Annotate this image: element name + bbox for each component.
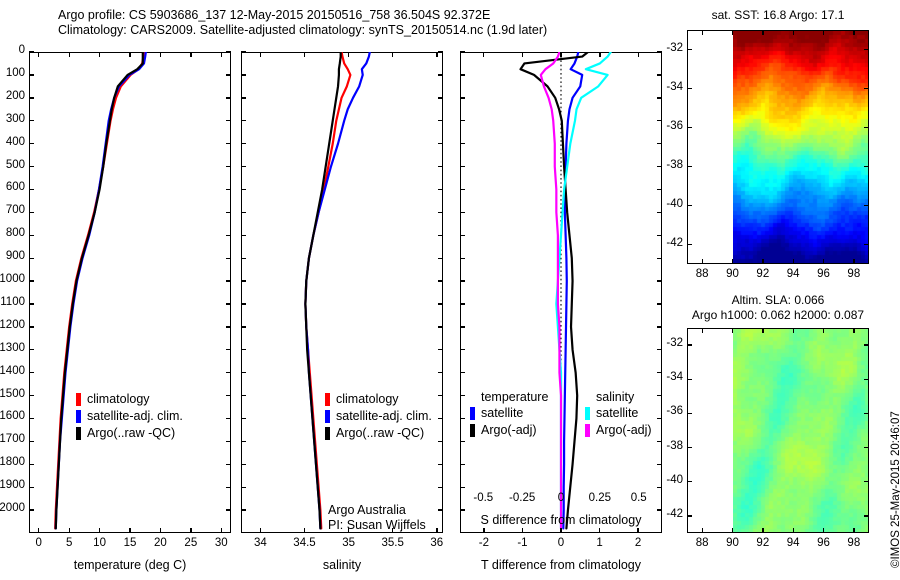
x-tick-label: 34.5 (283, 537, 327, 549)
x-tick (304, 52, 305, 57)
x-tick (260, 528, 261, 533)
map-y-tick (687, 447, 692, 448)
y-tick (226, 372, 231, 373)
y-tick (241, 280, 246, 281)
legend-row: satellite (470, 405, 548, 422)
y-tick (29, 189, 34, 190)
x-tick-label: 0 (539, 537, 583, 549)
y-tick (438, 51, 443, 52)
x-tick (38, 52, 39, 57)
difference-legend-temperature: temperaturesatelliteArgo(-adj) (470, 390, 548, 439)
map-y-tick (687, 244, 692, 245)
y-tick (29, 464, 34, 465)
depth-tick-label: 0 (0, 44, 25, 56)
temperature-axis-label: temperature (deg C) (29, 558, 231, 572)
y-tick (460, 395, 465, 396)
depth-tick-label: 1300 (0, 342, 25, 354)
y-tick (241, 120, 246, 121)
y-tick (657, 258, 662, 259)
y-tick (241, 441, 246, 442)
map-x-tick (732, 30, 733, 35)
y-tick (241, 51, 246, 52)
map-lat-label: -36 (651, 405, 683, 417)
salinity-legend: climatologysatellite-adj. clim.Argo(..ra… (325, 391, 432, 442)
y-tick (29, 120, 34, 121)
map-lat-label: -40 (651, 474, 683, 486)
y-tick (29, 441, 34, 442)
legend-row: satellite-adj. clim. (325, 408, 432, 425)
y-tick (438, 166, 443, 167)
y-tick (438, 74, 443, 75)
y-tick (438, 487, 443, 488)
y-tick (226, 120, 231, 121)
y-tick (460, 235, 465, 236)
temperature-profile-curves (29, 52, 231, 533)
map-lat-label: -42 (651, 508, 683, 520)
x-tick (38, 528, 39, 533)
legend-label: satellite (596, 405, 638, 422)
y-tick (657, 349, 662, 350)
legend-swatch (470, 424, 475, 437)
y-tick (226, 258, 231, 259)
map-lat-label: -40 (651, 198, 683, 210)
y-tick (460, 258, 465, 259)
x-tick-label: 34 (238, 537, 282, 549)
y-tick (438, 280, 443, 281)
y-tick (241, 143, 246, 144)
x-tick (260, 52, 261, 57)
y-tick (657, 212, 662, 213)
y-tick (29, 74, 34, 75)
x-tick (69, 528, 70, 533)
y-tick (438, 143, 443, 144)
y-tick (438, 464, 443, 465)
y-tick (460, 303, 465, 304)
map-lat-label: -32 (651, 42, 683, 54)
y-tick (241, 509, 246, 510)
legend-heading-temperature: temperature (481, 390, 548, 404)
y-tick (241, 326, 246, 327)
y-tick (226, 418, 231, 419)
y-tick (460, 189, 465, 190)
pi-annotation: PI: Susan Wijffels (328, 518, 426, 533)
y-tick (226, 395, 231, 396)
map-lat-label: -38 (651, 440, 683, 452)
x-tick-label: -1 (500, 537, 544, 549)
y-tick (226, 441, 231, 442)
difference-profile-curves (460, 52, 662, 533)
x-tick-label: 35.5 (371, 537, 415, 549)
y-tick (438, 189, 443, 190)
temperature-legend: climatologysatellite-adj. clim.Argo(..ra… (76, 391, 183, 442)
x-tick (221, 528, 222, 533)
y-tick (241, 487, 246, 488)
x-tick-label: 35 (327, 537, 371, 549)
x-tick (560, 52, 561, 57)
y-tick (657, 487, 662, 488)
y-tick (460, 487, 465, 488)
x-tick-label: 1 (578, 537, 622, 549)
map-x-tick (853, 30, 854, 35)
y-tick (438, 258, 443, 259)
y-tick (241, 166, 246, 167)
y-tick (460, 120, 465, 121)
y-tick (438, 120, 443, 121)
y-tick (226, 235, 231, 236)
y-tick (460, 143, 465, 144)
y-tick (241, 258, 246, 259)
legend-swatch (325, 427, 330, 440)
y-tick (438, 509, 443, 510)
depth-tick-label: 1700 (0, 433, 25, 445)
legend-swatch (325, 393, 330, 406)
x-tick (160, 528, 161, 533)
y-tick (29, 395, 34, 396)
map-x-tick (793, 259, 794, 264)
legend-row: Argo(..raw -QC) (325, 425, 432, 442)
y-tick (460, 418, 465, 419)
y-tick (29, 303, 34, 304)
map-y-tick (687, 88, 692, 89)
x-tick-label: 2 (616, 537, 660, 549)
y-tick (29, 258, 34, 259)
map-x-tick (732, 259, 733, 264)
y-tick (241, 189, 246, 190)
map-x-tick (702, 328, 703, 333)
y-tick (29, 51, 34, 52)
sla-map-title: Altim. SLA: 0.066 (673, 293, 883, 307)
map-y-tick (687, 413, 692, 414)
y-tick (460, 74, 465, 75)
series-climatology (55, 52, 143, 528)
y-tick (460, 509, 465, 510)
y-tick (29, 212, 34, 213)
sla-map-image (733, 329, 868, 532)
legend-swatch (76, 427, 81, 440)
depth-tick-label: 1900 (0, 479, 25, 491)
x-tick (99, 528, 100, 533)
legend-swatch (470, 407, 475, 420)
y-tick (460, 326, 465, 327)
map-lon-label: 98 (834, 268, 874, 280)
map-y-tick (687, 379, 692, 380)
x-tick (160, 52, 161, 57)
depth-tick-label: 1000 (0, 273, 25, 285)
y-tick (226, 326, 231, 327)
salinity-axis-label: salinity (241, 558, 443, 572)
x-tick-label: 36 (415, 537, 459, 549)
y-tick (657, 303, 662, 304)
figure-canvas: Argo profile: CS 5903686_137 12-May-2015… (0, 0, 900, 580)
y-tick (657, 143, 662, 144)
map-x-tick (702, 30, 703, 35)
legend-label: climatology (87, 391, 150, 408)
map-x-tick (762, 259, 763, 264)
x-tick (522, 52, 523, 57)
map-x-tick (762, 30, 763, 35)
y-tick (29, 143, 34, 144)
map-lat-label: -32 (651, 337, 683, 349)
depth-tick-label: 600 (0, 181, 25, 193)
y-tick (226, 464, 231, 465)
map-x-tick (853, 259, 854, 264)
y-tick (460, 166, 465, 167)
depth-tick-label: 1800 (0, 456, 25, 468)
map-x-tick (702, 259, 703, 264)
y-tick (460, 441, 465, 442)
x-tick (483, 52, 484, 57)
x-tick (483, 528, 484, 533)
map-x-tick (823, 30, 824, 35)
legend-label: Argo(-adj) (596, 422, 652, 439)
map-y-tick (864, 205, 869, 206)
y-tick (241, 303, 246, 304)
y-tick (29, 418, 34, 419)
map-x-tick (823, 259, 824, 264)
map-lat-label: -34 (651, 371, 683, 383)
y-tick (226, 97, 231, 98)
series-salinity-argo-adj- (541, 52, 561, 528)
y-tick (226, 509, 231, 510)
y-tick (29, 349, 34, 350)
x-tick (392, 52, 393, 57)
salinity-profile-curves (241, 52, 443, 533)
legend-row: satellite (585, 405, 652, 422)
map-x-tick (762, 328, 763, 333)
y-tick (438, 349, 443, 350)
x-tick (348, 52, 349, 57)
x-tick (560, 528, 561, 533)
legend-row: Argo(-adj) (470, 422, 548, 439)
y-tick (29, 326, 34, 327)
y-tick (460, 349, 465, 350)
legend-label: Argo(-adj) (481, 422, 537, 439)
map-y-tick (864, 166, 869, 167)
y-tick (438, 303, 443, 304)
y-tick (241, 97, 246, 98)
salinity-difference-axis-label: S difference from climatology (460, 513, 662, 527)
map-x-tick (793, 528, 794, 533)
legend-heading-salinity: salinity (596, 390, 652, 404)
y-tick (226, 487, 231, 488)
y-tick (226, 303, 231, 304)
y-tick (657, 74, 662, 75)
depth-tick-label: 1400 (0, 365, 25, 377)
legend-row: satellite-adj. clim. (76, 408, 183, 425)
y-tick (657, 464, 662, 465)
map-lat-label: -42 (651, 237, 683, 249)
difference-legend-salinity: salinitysatelliteArgo(-adj) (585, 390, 652, 439)
y-tick (460, 212, 465, 213)
map-y-tick (687, 481, 692, 482)
y-tick (226, 189, 231, 190)
y-tick (226, 280, 231, 281)
legend-label: satellite-adj. clim. (336, 408, 432, 425)
y-tick (657, 418, 662, 419)
map-y-tick (864, 127, 869, 128)
y-tick (226, 166, 231, 167)
y-tick (29, 166, 34, 167)
depth-tick-label: 100 (0, 67, 25, 79)
map-x-tick (793, 328, 794, 333)
x-tick-label: 30 (199, 537, 243, 549)
y-tick (438, 97, 443, 98)
argo-australia-annotation: Argo Australia (328, 503, 406, 518)
y-tick (438, 395, 443, 396)
legend-row: climatology (76, 391, 183, 408)
figure-title-line2: Climatology: CARS2009. Satellite-adjuste… (58, 23, 547, 38)
y-tick (29, 487, 34, 488)
x-tick (638, 52, 639, 57)
y-tick (460, 51, 465, 52)
map-y-tick (864, 379, 869, 380)
map-lat-label: -38 (651, 159, 683, 171)
depth-tick-label: 1100 (0, 296, 25, 308)
y-tick (438, 441, 443, 442)
x-tick (599, 52, 600, 57)
y-tick (460, 97, 465, 98)
depth-tick-label: 800 (0, 227, 25, 239)
y-tick (657, 280, 662, 281)
map-y-tick (687, 515, 692, 516)
map-lat-label: -36 (651, 120, 683, 132)
map-lat-label: -34 (651, 81, 683, 93)
legend-row: Argo(..raw -QC) (76, 425, 183, 442)
x-tick (99, 52, 100, 57)
y-tick (438, 235, 443, 236)
y-tick (241, 212, 246, 213)
x-tick (221, 52, 222, 57)
map-y-tick (864, 515, 869, 516)
y-tick (241, 235, 246, 236)
depth-tick-label: 700 (0, 204, 25, 216)
legend-label: climatology (336, 391, 399, 408)
y-tick (226, 349, 231, 350)
y-tick (438, 372, 443, 373)
x-tick (599, 528, 600, 533)
y-tick (241, 349, 246, 350)
depth-tick-label: 1200 (0, 319, 25, 331)
x-tick (304, 528, 305, 533)
y-tick (438, 326, 443, 327)
y-tick (241, 464, 246, 465)
y-tick (226, 51, 231, 52)
depth-tick-label: 2000 (0, 502, 25, 514)
y-tick (657, 326, 662, 327)
map-y-tick (687, 166, 692, 167)
depth-tick-label: 1600 (0, 410, 25, 422)
depth-tick-label: 500 (0, 159, 25, 171)
y-tick (29, 97, 34, 98)
depth-tick-label: 900 (0, 250, 25, 262)
legend-label: Argo(..raw -QC) (336, 425, 424, 442)
map-x-tick (732, 328, 733, 333)
x-tick-label: 0.5 (615, 492, 663, 504)
x-tick (436, 528, 437, 533)
map-y-tick (864, 49, 869, 50)
map-x-tick (853, 528, 854, 533)
copyright-label: ©IMOS 25-May-2015 20:46:07 (890, 411, 900, 568)
y-tick (226, 212, 231, 213)
legend-label: satellite (481, 405, 523, 422)
map-x-tick (732, 528, 733, 533)
map-x-tick (823, 328, 824, 333)
legend-swatch (76, 393, 81, 406)
temperature-difference-axis-label: T difference from climatology (460, 558, 662, 572)
legend-swatch (585, 407, 590, 420)
depth-tick-label: 200 (0, 90, 25, 102)
y-tick (241, 395, 246, 396)
x-tick (522, 528, 523, 533)
map-lon-label: 98 (834, 537, 874, 549)
legend-swatch (585, 424, 590, 437)
sla-map-subtitle: Argo h1000: 0.062 h2000: 0.087 (658, 308, 898, 322)
x-tick (637, 528, 638, 533)
y-tick (460, 464, 465, 465)
y-tick (29, 280, 34, 281)
x-tick (69, 52, 70, 57)
map-y-tick (864, 88, 869, 89)
y-tick (226, 74, 231, 75)
legend-row: Argo(-adj) (585, 422, 652, 439)
map-y-tick (864, 447, 869, 448)
y-tick (29, 235, 34, 236)
y-tick (241, 74, 246, 75)
y-tick (460, 372, 465, 373)
y-tick (657, 395, 662, 396)
map-y-tick (864, 413, 869, 414)
map-y-tick (687, 205, 692, 206)
map-y-tick (864, 481, 869, 482)
legend-label: satellite-adj. clim. (87, 408, 183, 425)
y-tick (241, 372, 246, 373)
y-tick (438, 418, 443, 419)
y-tick (29, 509, 34, 510)
map-y-tick (864, 244, 869, 245)
x-tick-label: -2 (462, 537, 506, 549)
legend-row: climatology (325, 391, 432, 408)
depth-tick-label: 400 (0, 136, 25, 148)
map-y-tick (687, 127, 692, 128)
x-tick (436, 52, 437, 57)
map-x-tick (702, 528, 703, 533)
map-x-tick (853, 328, 854, 333)
y-tick (241, 418, 246, 419)
sst-map-title: sat. SST: 16.8 Argo: 17.1 (673, 8, 883, 22)
depth-tick-label: 1500 (0, 388, 25, 400)
y-tick (226, 143, 231, 144)
series-satellite-adj-clim- (56, 52, 146, 528)
depth-tick-label: 300 (0, 113, 25, 125)
y-tick (438, 212, 443, 213)
sst-map-image (733, 31, 868, 263)
y-tick (460, 280, 465, 281)
x-tick (129, 528, 130, 533)
map-x-tick (793, 30, 794, 35)
legend-swatch (325, 410, 330, 423)
y-tick (657, 97, 662, 98)
map-x-tick (823, 528, 824, 533)
y-tick (29, 372, 34, 373)
figure-title-line1: Argo profile: CS 5903686_137 12-May-2015… (58, 8, 490, 23)
y-tick (657, 189, 662, 190)
legend-label: Argo(..raw -QC) (87, 425, 175, 442)
map-y-tick (687, 344, 692, 345)
x-tick (129, 52, 130, 57)
x-tick (190, 52, 191, 57)
map-y-tick (687, 49, 692, 50)
legend-swatch (76, 410, 81, 423)
